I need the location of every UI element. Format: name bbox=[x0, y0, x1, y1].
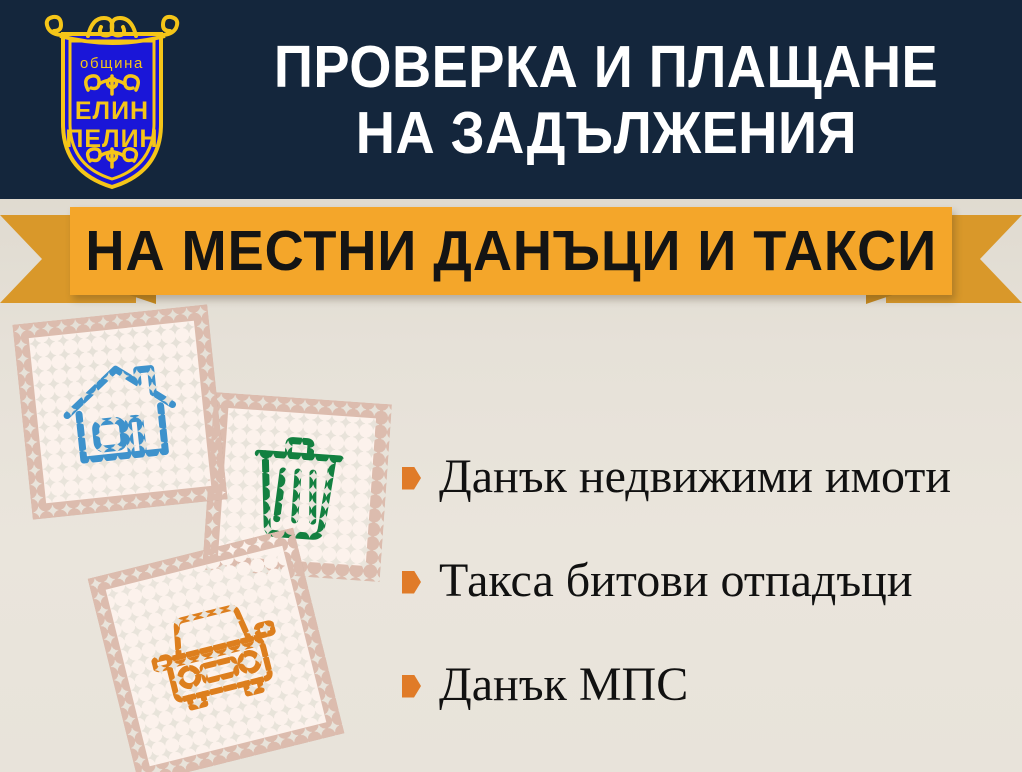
tax-type-list: Данък недвижими имоти Такса битови отпад… bbox=[402, 425, 1012, 737]
poster-banner: община ЕЛИН ПЕЛИН bbox=[0, 0, 1022, 772]
logo-word-elin: ЕЛИН bbox=[75, 97, 149, 125]
stamp-paper bbox=[29, 321, 211, 503]
trash-icon bbox=[244, 429, 349, 546]
list-item-label: Такса битови отпадъци bbox=[439, 556, 913, 606]
list-item-label: Данък МПС bbox=[439, 660, 688, 710]
ribbon-band: НА МЕСТНИ ДАНЪЦИ И ТАКСИ bbox=[70, 207, 952, 295]
coat-of-arms-icon: община ЕЛИН ПЕЛИН bbox=[30, 6, 195, 191]
header-title-line-1: ПРОВЕРКА И ПЛАЩАНЕ bbox=[274, 37, 938, 97]
house-icon bbox=[56, 352, 185, 472]
stamp-card-group bbox=[0, 300, 420, 772]
logo-word-obshtina: община bbox=[80, 55, 144, 72]
header-title-block: ПРОВЕРКА И ПЛАЩАНЕ НА ЗАДЪЛЖЕНИЯ bbox=[196, 20, 1016, 180]
stamp-paper bbox=[106, 546, 327, 767]
arrow-bullet-icon bbox=[402, 571, 421, 594]
ribbon-banner: НА МЕСТНИ ДАНЪЦИ И ТАКСИ bbox=[0, 199, 1022, 311]
list-item: Такса битови отпадъци bbox=[402, 529, 1012, 633]
list-item: Данък МПС bbox=[402, 633, 1012, 737]
header-title-line-2: НА ЗАДЪЛЖЕНИЯ bbox=[355, 103, 856, 163]
car-icon bbox=[141, 590, 290, 722]
list-item: Данък недвижими имоти bbox=[402, 425, 1012, 529]
municipality-logo: община ЕЛИН ПЕЛИН bbox=[30, 6, 195, 191]
stamp-card-real-estate bbox=[12, 304, 227, 519]
list-item-label: Данък недвижими имоти bbox=[439, 452, 951, 502]
arrow-bullet-icon bbox=[402, 675, 421, 698]
arrow-bullet-icon bbox=[402, 467, 421, 490]
header-bar: община ЕЛИН ПЕЛИН bbox=[0, 0, 1022, 199]
ribbon-text: НА МЕСТНИ ДАНЪЦИ И ТАКСИ bbox=[85, 218, 937, 284]
